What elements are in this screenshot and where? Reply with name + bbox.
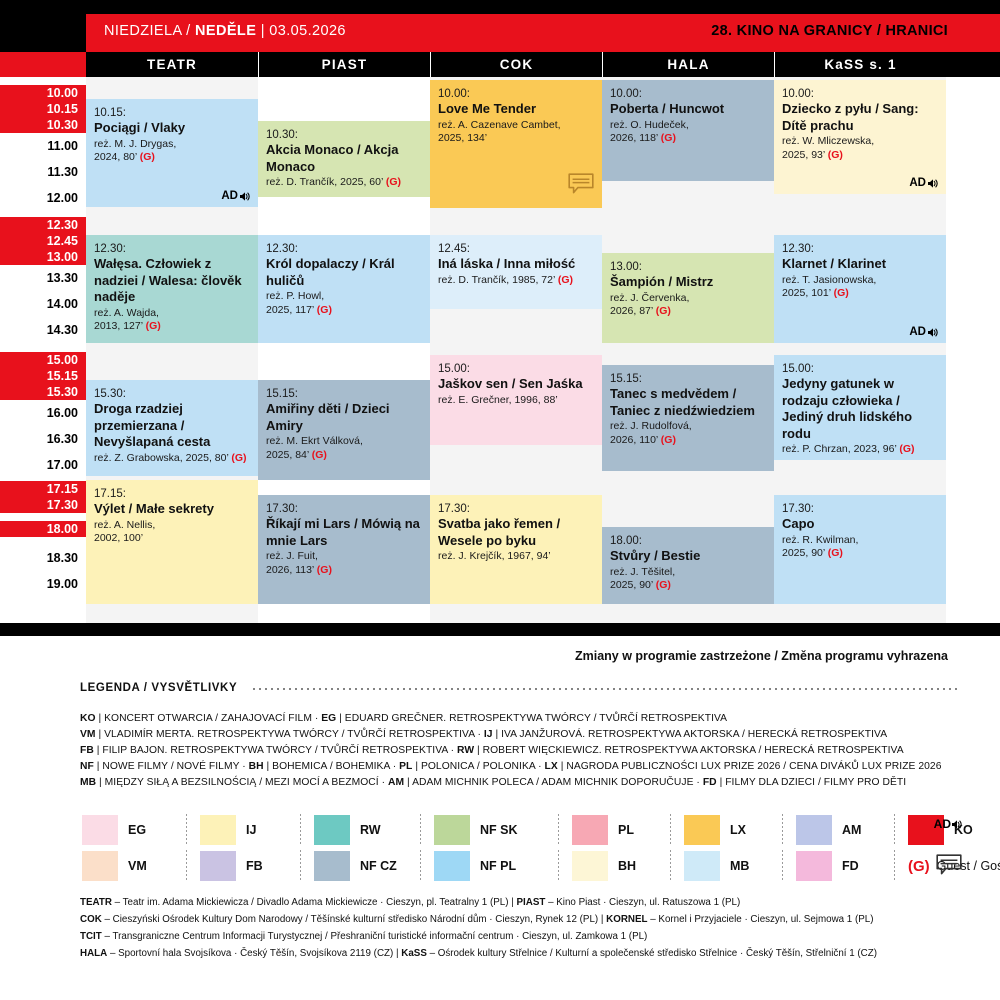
event-meta-line: reż. J. Fuit, [266,550,422,564]
event-meta-line: reż. O. Hudeček, [610,119,766,133]
event-credits: reż. A. Cazenave Cambet,2025, 134’ [438,119,594,146]
time-slot-1130: 11.30 [0,159,86,185]
event-meta-line: 2025, 90’ (G) [610,579,766,593]
color-key-label: AM [842,823,861,837]
header-black-cap [0,14,86,52]
event-card[interactable]: 15.00:Jaškov sen / Sen Jaśkareż. E. Greč… [430,355,602,445]
color-key-separator [894,814,895,846]
color-swatch [796,851,832,881]
event-card[interactable]: 10.00:Dziecko z pyłu / Sang: Dítě prachu… [774,80,946,194]
color-key-item-fb: FB [200,848,263,884]
color-swatch [82,851,118,881]
venue-header-hala[interactable]: HALA [602,52,774,77]
venue-header-teatr[interactable]: TEATR [86,52,258,77]
event-meta-line: 2026, 113’ (G) [266,564,422,578]
event-start-time: 15.00: [438,362,594,376]
subtitles-icon [568,173,594,200]
venue-header-red-cap [0,52,86,77]
guest-marker: (G) [834,287,849,299]
event-title: Šampión / Mistrz [610,274,766,290]
event-title: Klarnet / Klarinet [782,256,938,272]
time-column: 10.0010.1510.3011.0011.3012.0012.3012.45… [0,77,86,623]
time-slot-1800: 18.00 [0,521,86,537]
event-meta-line: 2025, 93’ (G) [782,149,938,163]
legend-line: VM | VLADIMÍR MERTA. RETROSPEKTYWA TWÓRC… [80,727,970,743]
time-slot-1700: 17.00 [0,452,86,478]
event-start-time: 10.00: [438,87,594,101]
venue-address-line: TCIT – Transgraniczne Centrum Informacji… [80,929,980,946]
event-meta-line: reż. D. Trančík, 2025, 60’ (G) [266,176,422,190]
event-credits: reż. P. Howl,2025, 117’ (G) [266,290,422,317]
event-meta-line: reż. A. Nellis, [94,519,250,533]
event-meta-line: 2025, 101’ (G) [782,287,938,301]
event-card[interactable]: 17.30:Říkají mi Lars / Mówią na mnie Lar… [258,495,430,604]
time-slot-1330: 13.30 [0,265,86,291]
header-sep-2: | [256,23,269,39]
venue-header-piast[interactable]: PIAST [258,52,430,77]
lane-teatr: 10.15:Pociągi / Vlakyreż. M. J. Drygas,2… [86,77,258,623]
event-meta-line: reż. A. Cazenave Cambet, [438,119,594,133]
event-meta-line: reż. J. Rudolfová, [610,420,766,434]
event-card[interactable]: 10.30:Akcia Monaco / Akcja Monacoreż. D.… [258,121,430,197]
color-key-item-nf-sk: NF SK [434,812,518,848]
color-key-separator [186,814,187,846]
event-card[interactable]: 15.15:Tanec s medvědem / Taniec z niedźw… [602,365,774,471]
header-sep-1: / [182,23,195,39]
venue-header-row: TEATRPIASTCOKHALAKaSS s. 1 [0,52,1000,77]
event-card[interactable]: 12.30:Król dopalaczy / Král huličůreż. P… [258,235,430,343]
legend-dotted-rule [251,688,960,690]
event-title: Król dopalaczy / Král huličů [266,256,422,289]
color-key-label: RW [360,823,381,837]
guest-marker: (G) [317,304,332,316]
header-date: NIEDZIELA / NEDĚLE | 03.05.2026 [104,23,346,39]
color-key-label: PL [618,823,634,837]
guest-marker: (G) [661,434,676,446]
lane-hala: 10.00:Poberta / Huncwotreż. O. Hudeček,2… [602,77,774,623]
event-card[interactable]: 10.00:Poberta / Huncwotreż. O. Hudeček,2… [602,80,774,181]
time-slot-1715: 17.15 [0,481,86,497]
guest-marker: (G) [312,449,327,461]
event-meta-line: reż. D. Trančík, 1985, 72’ (G) [438,274,594,288]
event-meta-line: 2026, 118’ (G) [610,132,766,146]
event-card[interactable]: 12.30:Klarnet / Klarinetreż. T. Jasionow… [774,235,946,343]
venue-header-cok[interactable]: COK [430,52,602,77]
color-key-label: BH [618,859,636,873]
event-title: Výlet / Małe sekrety [94,501,250,517]
event-card[interactable]: 10.15:Pociągi / Vlakyreż. M. J. Drygas,2… [86,99,258,207]
event-title: Tanec s medvědem / Taniec z niedźwiedzie… [610,386,766,419]
color-swatch [314,815,350,845]
color-key-separator [670,850,671,882]
event-credits: reż. O. Hudeček,2026, 118’ (G) [610,119,766,146]
color-key-item-fd: FD [796,848,859,884]
time-slot-1245: 12.45 [0,233,86,249]
event-credits: reż. Z. Grabowska, 2025, 80’ (G) [94,452,250,466]
color-key-separator [782,850,783,882]
color-key-item-bh: BH [572,848,636,884]
color-key-separator [300,814,301,846]
event-credits: reż. D. Trančík, 2025, 60’ (G) [266,176,422,190]
audio-description-label: AD [934,817,951,831]
event-credits: reż. J. Fuit,2026, 113’ (G) [266,550,422,577]
audio-description-label: AD [909,326,926,338]
color-key-item-pl: PL [572,812,634,848]
event-meta-line: reż. A. Wajda, [94,307,250,321]
venue-address-line: COK – Cieszyński Ośrodek Kultury Dom Nar… [80,912,980,929]
legend-heading: LEGENDA / VYSVĚTLIVKY [80,680,960,696]
event-start-time: 12.30: [782,242,938,256]
color-key-separator [300,850,301,882]
event-title: Iná láska / Inna miłość [438,256,594,272]
color-key-item-ij: IJ [200,812,256,848]
legend-line: NF | NOWE FILMY / NOVÉ FILMY · BH | BOHE… [80,759,970,775]
header-day-cz: NEDĚLE [195,23,256,39]
program-schedule-page: NIEDZIELA / NEDĚLE | 03.05.2026 28. KINO… [0,0,1000,1000]
event-meta-line: reż. P. Howl, [266,290,422,304]
time-slot-1000: 10.00 [0,85,86,101]
color-swatch [434,851,470,881]
color-key-row-2: VMFBNF CZNF PLBHMBFD(G)Guest / Gość / Ho… [82,848,962,884]
color-key-label: IJ [246,823,256,837]
event-title: Pociągi / Vlaky [94,120,250,136]
color-key-item-vm: VM [82,848,147,884]
event-title: Amiřiny děti / Dzieci Amiry [266,401,422,434]
color-key-item-am: AM [796,812,861,848]
time-slot-1600: 16.00 [0,400,86,426]
color-swatch [200,815,236,845]
legend-title: LEGENDA / VYSVĚTLIVKY [80,682,237,694]
time-slot-1200: 12.00 [0,185,86,211]
legend-line: FB | FILIP BAJON. RETROSPEKTYWA TWÓRCY /… [80,743,970,759]
event-title: Svatba jako řemen / Wesele po byku [438,516,594,549]
event-meta-line: 2024, 80’ (G) [94,151,250,165]
event-credits: reż. J. Červenka,2026, 87’ (G) [610,292,766,319]
audio-description-icon: AD [909,326,938,338]
color-key-row-1: EGIJRWNF SKPLLXAMKOAD [82,812,962,848]
event-start-time: 17.30: [782,502,938,516]
color-swatch [434,815,470,845]
event-start-time: 17.30: [266,502,422,516]
event-start-time: 15.15: [610,372,766,386]
event-credits: reż. J. Těšitel,2025, 90’ (G) [610,566,766,593]
color-key-label: FB [246,859,263,873]
event-meta-line: reż. W. Mliczewska, [782,135,938,149]
color-key-label: EG [128,823,146,837]
guest-marker: (G) [317,564,332,576]
color-key-item-nf-cz: NF CZ [314,848,397,884]
guest-marker: (G) [146,320,161,332]
guest-marker: (G) [656,305,671,317]
event-meta-line: reż. M. J. Drygas, [94,138,250,152]
event-start-time: 15.30: [94,387,250,401]
color-key-label: NF SK [480,823,518,837]
time-slot-1630: 16.30 [0,426,86,452]
audio-description-icon: AD [221,190,250,202]
event-title: Dziecko z pyłu / Sang: Dítě prachu [782,101,938,134]
time-slot-1515: 15.15 [0,368,86,384]
schedule-grid: 10.0010.1510.3011.0011.3012.0012.3012.45… [0,77,1000,623]
color-key-item-eg: EG [82,812,146,848]
event-credits: reż. J. Krejčík, 1967, 94’ [438,550,594,564]
header-date-value: 03.05.2026 [269,23,346,39]
event-card[interactable]: 15.00:Jedyny gatunek w rodzaju człowieka… [774,355,946,460]
time-slot-1830: 18.30 [0,545,86,571]
time-slot-1900: 19.00 [0,571,86,597]
event-credits: reż. W. Mliczewska,2025, 93’ (G) [782,135,938,162]
event-meta-line: reż. M. Ekrt Válková, [266,435,422,449]
color-key-separator [420,814,421,846]
color-key-label: NF PL [480,859,516,873]
event-card[interactable]: 17.30:Svatba jako řemen / Wesele po byku… [430,495,602,604]
event-card[interactable]: 17.15:Výlet / Małe sekretyreż. A. Nellis… [86,480,258,604]
color-key-separator [782,814,783,846]
event-credits: reż. M. J. Drygas,2024, 80’ (G) [94,138,250,165]
venue-header-kass-s-1[interactable]: KaSS s. 1 [774,52,946,77]
header-bar: NIEDZIELA / NEDĚLE | 03.05.2026 28. KINO… [0,14,1000,52]
color-swatch [684,815,720,845]
event-credits: reż. E. Grečner, 1996, 88’ [438,394,594,408]
event-title: Jedyny gatunek w rodzaju człowieka / Jed… [782,376,938,442]
event-meta-line: reż. J. Červenka, [610,292,766,306]
color-key-item-rw: RW [314,812,381,848]
time-slot-1500: 15.00 [0,352,86,368]
event-meta-line: 2013, 127’ (G) [94,320,250,334]
event-credits: reż. T. Jasionowska,2025, 101’ (G) [782,274,938,301]
color-key-separator [558,814,559,846]
guest-marker: (G) [386,176,401,188]
color-key-subtitles-icon [936,854,962,876]
event-card[interactable]: 12.45:Iná láska / Inna miłośćreż. D. Tra… [430,235,602,309]
event-credits: reż. D. Trančík, 1985, 72’ (G) [438,274,594,288]
guest-marker: (G) [828,149,843,161]
event-title: Love Me Tender [438,101,594,117]
guest-marker: (G) [656,579,671,591]
event-start-time: 12.45: [438,242,594,256]
event-meta-line: reż. J. Těšitel, [610,566,766,580]
event-meta-line: reż. J. Krejčík, 1967, 94’ [438,550,594,564]
venue-address-list: TEATR – Teatr im. Adama Mickiewicza / Di… [80,895,980,962]
event-start-time: 10.15: [94,106,250,120]
guest-marker: (G) [231,452,246,464]
color-swatch [82,815,118,845]
time-slot-1230: 12.30 [0,217,86,233]
event-start-time: 17.30: [438,502,594,516]
event-credits: reż. J. Rudolfová,2026, 110’ (G) [610,420,766,447]
event-meta-line: 2025, 84’ (G) [266,449,422,463]
color-swatch [572,815,608,845]
event-start-time: 15.15: [266,387,422,401]
event-meta-line: 2025, 134’ [438,132,594,146]
event-credits: reż. A. Wajda,2013, 127’ (G) [94,307,250,334]
audio-description-label: AD [221,190,238,202]
time-slot-1530: 15.30 [0,384,86,400]
color-key-label: LX [730,823,746,837]
event-title: Akcia Monaco / Akcja Monaco [266,142,422,175]
color-key: EGIJRWNF SKPLLXAMKOAD VMFBNF CZNF PLBHMB… [82,812,962,884]
color-swatch [796,815,832,845]
legend-abbreviation-list: KO | KONCERT OTWARCIA / ZAHAJOVACÍ FILM … [80,711,970,791]
color-key-separator [186,850,187,882]
top-black-strip [0,0,1000,14]
color-key-label: NF CZ [360,859,397,873]
time-slot-1300: 13.00 [0,249,86,265]
lane-kass-s-1: 10.00:Dziecko z pyłu / Sang: Dítě prachu… [774,77,946,623]
venue-address-line: HALA – Sportovní hala Svojsíkova · Český… [80,946,980,963]
color-key-separator [558,850,559,882]
guest-marker: (G) [899,443,914,455]
time-slot-1100: 11.00 [0,133,86,159]
program-changes-note: Zmiany w programie zastrzeżone / Změna p… [575,649,948,663]
legend-line: KO | KONCERT OTWARCIA / ZAHAJOVACÍ FILM … [80,711,970,727]
guest-marker: (G) [661,132,676,144]
color-key-item-mb: MB [684,848,749,884]
guest-marker: (G) [140,151,155,163]
event-meta-line: reż. Z. Grabowska, 2025, 80’ (G) [94,452,250,466]
event-start-time: 12.30: [94,242,250,256]
event-start-time: 12.30: [266,242,422,256]
color-key-label: MB [730,859,749,873]
event-credits: reż. P. Chrzan, 2023, 96’ (G) [782,443,938,457]
event-card[interactable]: 18.00:Stvůry / Bestiereż. J. Těšitel,202… [602,527,774,604]
header-day-pl: NIEDZIELA [104,23,182,39]
color-key-label: FD [842,859,859,873]
guest-marker: (G) [558,274,573,286]
lane-piast: 10.30:Akcia Monaco / Akcja Monacoreż. D.… [258,77,430,623]
event-meta-line: 2025, 117’ (G) [266,304,422,318]
color-key-item-nf-pl: NF PL [434,848,516,884]
color-key-separator [670,814,671,846]
event-start-time: 10.00: [782,87,938,101]
event-card[interactable]: 15.15:Amiřiny děti / Dzieci Amiryreż. M.… [258,380,430,480]
event-title: Droga rzadziej przemierzana / Nevyšlapan… [94,401,250,450]
audio-description-label: AD [909,177,926,189]
event-start-time: 10.00: [610,87,766,101]
color-swatch [684,851,720,881]
event-title: Jaškov sen / Sen Jaśka [438,376,594,392]
legend-line: MB | MIĘDZY SIŁĄ A BEZSILNOŚCIĄ / MEZI M… [80,775,970,791]
event-start-time: 10.30: [266,128,422,142]
event-meta-line: 2002, 100’ [94,532,250,546]
color-swatch [572,851,608,881]
time-slot-1015: 10.15 [0,101,86,117]
event-start-time: 18.00: [610,534,766,548]
event-meta-line: 2025, 90’ (G) [782,547,938,561]
event-meta-line: reż. P. Chrzan, 2023, 96’ (G) [782,443,938,457]
event-credits: reż. A. Nellis,2002, 100’ [94,519,250,546]
event-meta-line: reż. E. Grečner, 1996, 88’ [438,394,594,408]
time-slot-1030: 10.30 [0,117,86,133]
event-meta-line: 2026, 87’ (G) [610,305,766,319]
event-meta-line: reż. T. Jasionowska, [782,274,938,288]
festival-brand-title: 28. KINO NA GRANICY / HRANICI [711,23,948,39]
color-swatch [200,851,236,881]
time-slot-1730: 17.30 [0,497,86,513]
color-key-item-lx: LX [684,812,746,848]
event-title: Capo [782,516,938,532]
color-swatch [314,851,350,881]
venue-address-line: TEATR – Teatr im. Adama Mickiewicza / Di… [80,895,980,912]
event-card[interactable]: 15.30:Droga rzadziej przemierzana / Nevy… [86,380,258,476]
event-credits: reż. M. Ekrt Válková,2025, 84’ (G) [266,435,422,462]
event-title: Říkají mi Lars / Mówią na mnie Lars [266,516,422,549]
event-title: Poberta / Huncwot [610,101,766,117]
color-key-label: VM [128,859,147,873]
color-key-separator [894,850,895,882]
time-slot-1400: 14.00 [0,291,86,317]
time-slot-1430: 14.30 [0,317,86,343]
color-key-separator [420,850,421,882]
event-title: Wałęsa. Człowiek z nadziei / Walesa: člo… [94,256,250,305]
event-card[interactable]: 10.00:Love Me Tenderreż. A. Cazenave Cam… [430,80,602,208]
event-start-time: 13.00: [610,260,766,274]
lane-cok: 10.00:Love Me Tenderreż. A. Cazenave Cam… [430,77,602,623]
venue-lanes: 10.15:Pociągi / Vlakyreż. M. J. Drygas,2… [86,77,1000,623]
event-card[interactable]: 17.30:Caporeż. R. Kwilman,2025, 90’ (G) [774,495,946,604]
guest-marker: (G) [828,547,843,559]
audio-description-icon: AD [909,177,938,189]
guest-marker: (G) [908,858,930,875]
event-meta-line: reż. R. Kwilman, [782,534,938,548]
event-credits: reż. R. Kwilman,2025, 90’ (G) [782,534,938,561]
event-start-time: 17.15: [94,487,250,501]
color-key-audio-description-icon: AD [934,817,962,831]
event-card[interactable]: 12.30:Wałęsa. Człowiek z nadziei / Wales… [86,235,258,343]
event-start-time: 15.00: [782,362,938,376]
event-title: Stvůry / Bestie [610,548,766,564]
event-card[interactable]: 13.00:Šampión / Mistrzreż. J. Červenka,2… [602,253,774,343]
event-meta-line: 2026, 110’ (G) [610,434,766,448]
bottom-black-strip [0,623,1000,636]
